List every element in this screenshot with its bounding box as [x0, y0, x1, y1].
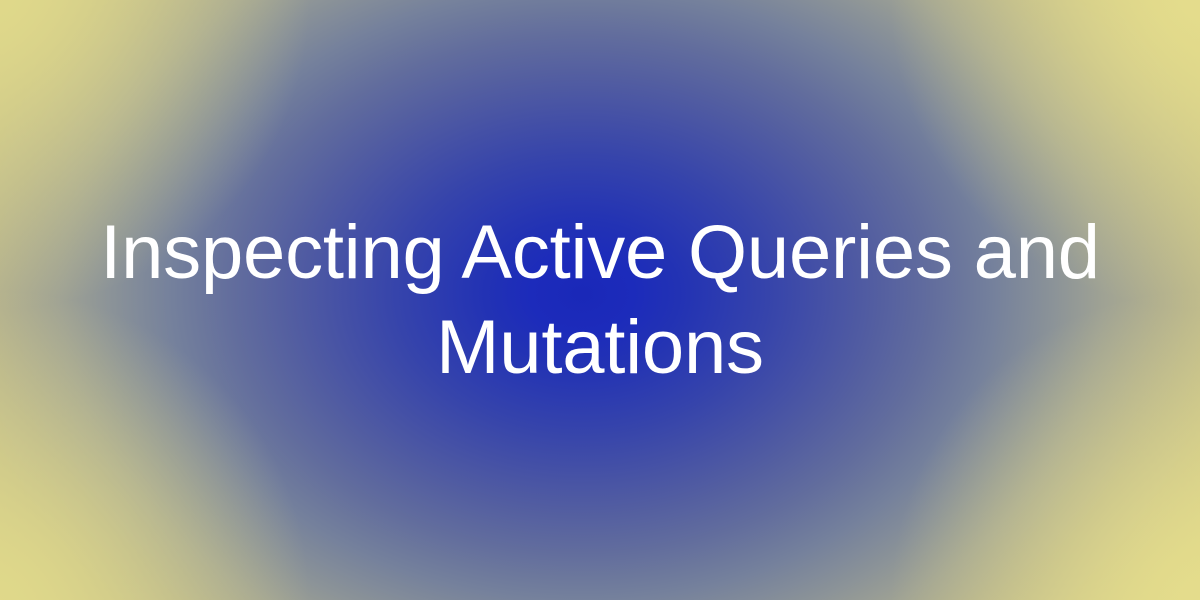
title-block: Inspecting Active Queries and Mutations — [0, 0, 1200, 600]
title-banner: Inspecting Active Queries and Mutations — [0, 0, 1200, 600]
page-title-line-2: Mutations — [100, 300, 1100, 395]
page-title: Inspecting Active Queries and Mutations — [100, 205, 1100, 395]
page-title-line-1: Inspecting Active Queries and — [100, 205, 1100, 300]
